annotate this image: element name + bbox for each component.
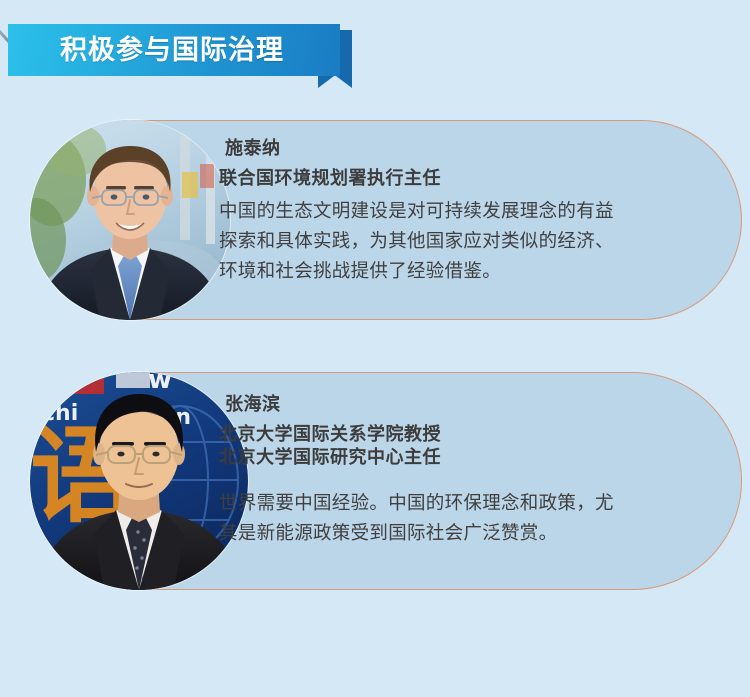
person-roles: 联合国环境规划署执行主任 [219, 167, 441, 190]
quote-line: 环境和社会挑战提供了经验借鉴。 [219, 257, 614, 287]
ribbon: 积极参与国际治理 [8, 24, 340, 76]
person-role: 北京大学国际研究中心主任 [219, 446, 441, 469]
quote-text: 中国的生态文明建设是对可持续发展理念的有益 探索和具体实践，为其他国家应对类似的… [219, 197, 614, 287]
header-banner: 积极参与国际治理 [0, 10, 400, 85]
quote-line: 中国的生态文明建设是对可持续发展理念的有益 [219, 197, 614, 227]
quote-card-2: chi w .cn 语 [40, 372, 742, 590]
person-name: 施泰纳 [225, 140, 281, 158]
quote-line: 其是新能源政策受到国际社会广泛赞赏。 [219, 519, 614, 549]
card-text-block: 张海滨 北京大学国际关系学院教授 北京大学国际研究中心主任 世界需要中国经验。中… [219, 373, 717, 589]
quote-text: 世界需要中国经验。中国的环保理念和政策，尤 其是新能源政策受到国际社会广泛赞赏。 [219, 489, 614, 549]
quote-card-1: 施泰纳 联合国环境规划署执行主任 中国的生态文明建设是对可持续发展理念的有益 探… [40, 120, 742, 320]
page-title: 积极参与国际治理 [60, 37, 284, 64]
person-role: 北京大学国际关系学院教授 [219, 423, 441, 446]
card-text-block: 施泰纳 联合国环境规划署执行主任 中国的生态文明建设是对可持续发展理念的有益 探… [219, 121, 717, 319]
quote-line: 世界需要中国经验。中国的环保理念和政策，尤 [219, 489, 614, 519]
avatar [30, 120, 230, 320]
person-name: 张海滨 [225, 396, 281, 414]
quote-line: 探索和具体实践，为其他国家应对类似的经济、 [219, 227, 614, 257]
svg-text:w: w [148, 372, 172, 395]
person-roles: 北京大学国际关系学院教授 北京大学国际研究中心主任 [219, 423, 441, 469]
avatar: chi w .cn 语 [30, 372, 248, 590]
person-role: 联合国环境规划署执行主任 [219, 167, 441, 190]
